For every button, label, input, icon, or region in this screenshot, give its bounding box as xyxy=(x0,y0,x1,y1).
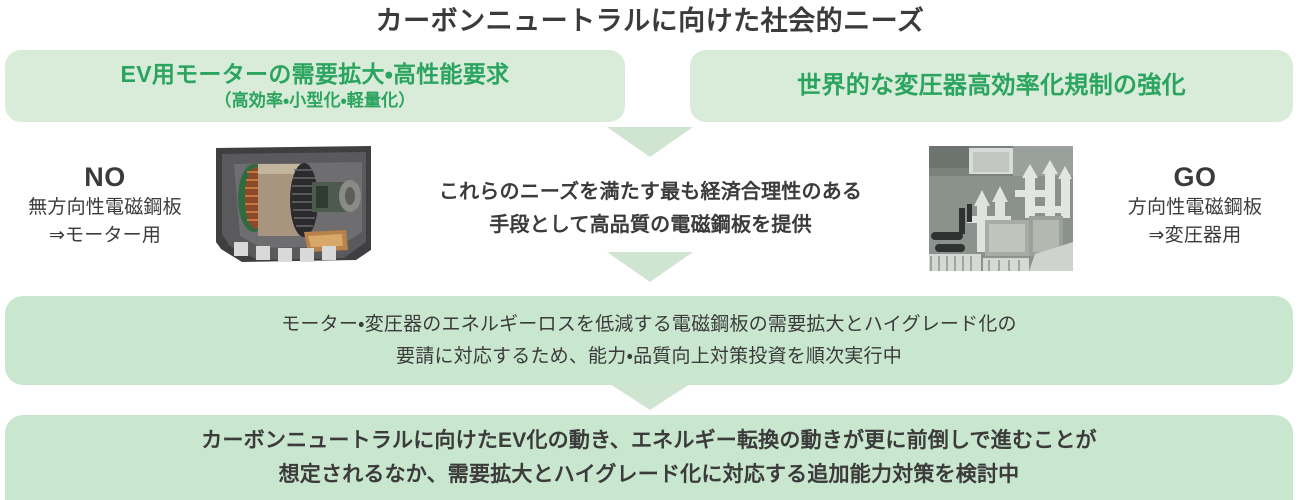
need-box-ev-motor: EV用モーターの需要拡大・高性能要求 （高効率・小型化・軽量化） xyxy=(5,50,625,122)
product-label-go: GO 方向性電磁鋼板 ⇒変圧器用 xyxy=(1090,160,1300,250)
product-name-no: 無方向性電磁鋼板 xyxy=(0,194,210,222)
band-measures: モーター・変圧器のエネルギーロスを低減する電磁鋼板の需要拡大とハイグレード化の … xyxy=(5,296,1293,385)
transformer-substation-photo xyxy=(929,146,1073,271)
need-box-transformer-regulation: 世界的な変圧器高効率化規制の強化 xyxy=(690,50,1293,122)
product-name-go: 方向性電磁鋼板 xyxy=(1090,194,1300,222)
page-title: カーボンニュートラルに向けた社会的ニーズ xyxy=(0,2,1300,40)
band-measures-text: モーター・変圧器のエネルギーロスを低減する電磁鋼板の需要拡大とハイグレード化の … xyxy=(281,309,1017,373)
transformer-photo-graphic xyxy=(929,146,1073,271)
down-arrow-icon-3 xyxy=(607,382,693,410)
band-outlook-line-1: カーボンニュートラルに向けたEV化の動き、エネルギー転換の動きが更に前倒しで進む… xyxy=(201,424,1097,458)
down-arrow-icon-1 xyxy=(607,127,693,157)
product-use-no: ⇒モーター用 xyxy=(0,222,210,250)
motor-photo-graphic xyxy=(216,146,371,274)
band-outlook-text: カーボンニュートラルに向けたEV化の動き、エネルギー転換の動きが更に前倒しで進む… xyxy=(201,424,1097,492)
band-outlook-line-2: 想定されるなか、需要拡大とハイグレード化に対応する追加能力対策を検討中 xyxy=(201,458,1097,492)
product-code-no: NO xyxy=(0,160,210,194)
product-use-go: ⇒変圧器用 xyxy=(1090,222,1300,250)
down-arrow-icon-2 xyxy=(607,252,693,282)
need-box-transformer-regulation-title: 世界的な変圧器高効率化規制の強化 xyxy=(797,71,1186,101)
center-statement-line-1: これらのニーズを満たす最も経済合理性のある xyxy=(383,176,918,209)
band-measures-line-1: モーター・変圧器のエネルギーロスを低減する電磁鋼板の需要拡大とハイグレード化の xyxy=(281,309,1017,341)
product-label-no: NO 無方向性電磁鋼板 ⇒モーター用 xyxy=(0,160,210,250)
slide-canvas: カーボンニュートラルに向けた社会的ニーズ EV用モーターの需要拡大・高性能要求 … xyxy=(0,0,1300,500)
motor-cutaway-photo xyxy=(216,146,371,274)
product-code-go: GO xyxy=(1090,160,1300,194)
center-statement: これらのニーズを満たす最も経済合理性のある 手段として高品質の電磁鋼板を提供 xyxy=(383,176,918,242)
need-box-ev-motor-subtitle: （高効率・小型化・軽量化） xyxy=(214,89,415,113)
band-measures-line-2: 要請に対応するため、能力・品質向上対策投資を順次実行中 xyxy=(281,341,1017,373)
band-outlook: カーボンニュートラルに向けたEV化の動き、エネルギー転換の動きが更に前倒しで進む… xyxy=(5,415,1293,500)
center-statement-line-2: 手段として高品質の電磁鋼板を提供 xyxy=(383,209,918,242)
need-box-ev-motor-title: EV用モーターの需要拡大・高性能要求 xyxy=(121,59,510,89)
